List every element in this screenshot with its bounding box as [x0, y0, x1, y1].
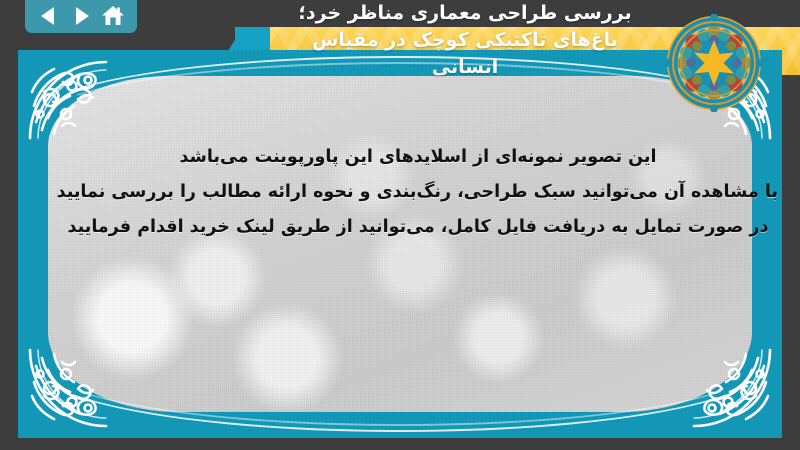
- body-line-3: در صورت تمایل به دریافت فایل کامل، می‌تو…: [58, 210, 778, 245]
- previous-arrow-icon[interactable]: [37, 4, 61, 28]
- slide-root: بررسی طراحی معماری مناظر خرد؛ باغ‌های تا…: [0, 0, 800, 450]
- body-line-1: این تصویر نمونه‌ای از اسلایدهای این پاور…: [58, 140, 778, 175]
- next-arrow-icon[interactable]: [69, 4, 93, 28]
- slide-body-text: این تصویر نمونه‌ای از اسلایدهای این پاور…: [58, 140, 778, 245]
- body-line-2: با مشاهده آن می‌توانید سبک طراحی، رنگ‌بن…: [58, 175, 778, 210]
- page-title-line-1: بررسی طراحی معماری مناظر خرد؛: [250, 0, 680, 27]
- home-icon[interactable]: [101, 4, 125, 28]
- navigation-toolbar[interactable]: [25, 0, 137, 33]
- persian-medallion-ornament: [665, 14, 763, 112]
